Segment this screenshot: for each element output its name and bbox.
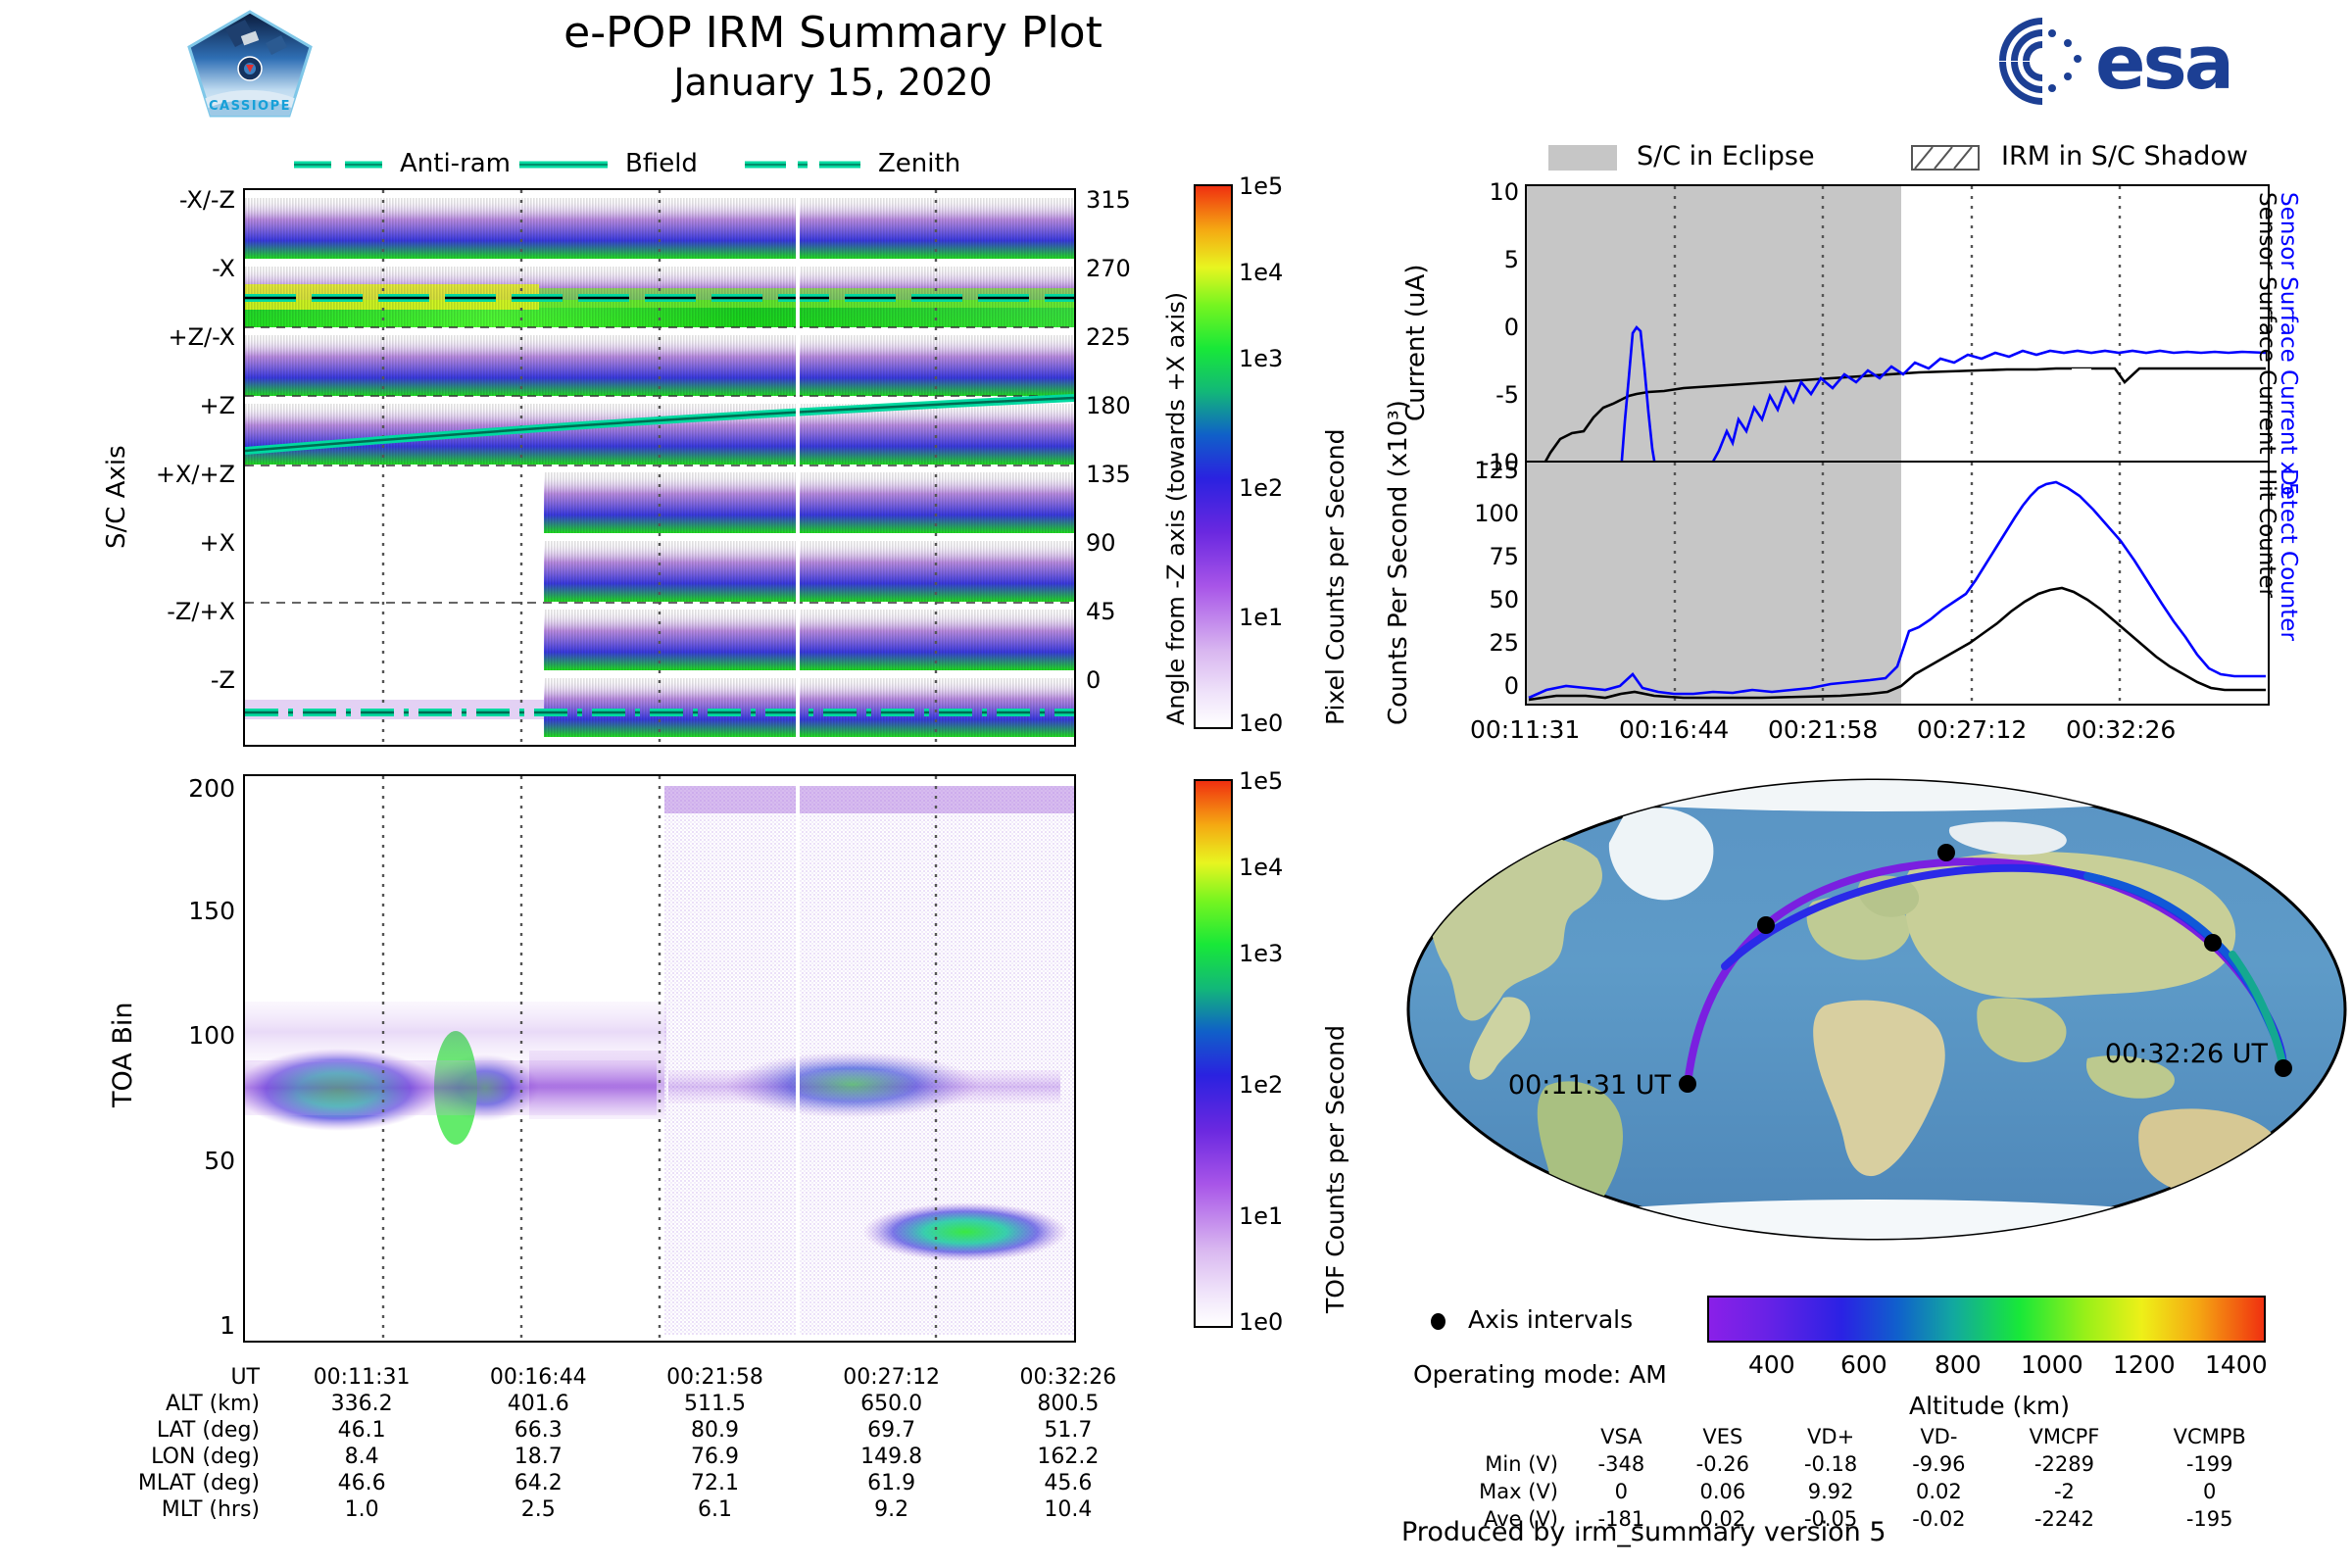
rx-t0: 00:11:31 <box>1470 715 1580 744</box>
lon-v0: 8.4 <box>273 1444 450 1470</box>
ytick-nz-px: -Z/+X <box>167 598 235 625</box>
sc-axis-spectrogram[interactable] <box>243 188 1076 747</box>
lat-v2: 80.9 <box>626 1417 803 1444</box>
alt-1400: 1400 <box>2205 1350 2268 1379</box>
mlt-v3: 9.2 <box>804 1496 980 1523</box>
table-row-mlt: MLT (hrs) 1.0 2.5 6.1 9.2 10.4 <box>59 1496 1156 1523</box>
ytick-px: +X <box>199 529 235 557</box>
toa-200: 200 <box>188 774 235 803</box>
mlt-v4: 10.4 <box>980 1496 1156 1523</box>
toa-150: 150 <box>188 897 235 925</box>
toa-50: 50 <box>204 1147 235 1175</box>
pixel-colorbar-label: Pixel Counts per Second <box>1321 429 1349 725</box>
altitude-colorbar-label: Altitude (km) <box>1909 1392 2070 1420</box>
cnt-0: 0 <box>1504 672 1519 700</box>
sc-axis-y2label: Angle from -Z axis (towards +X axis) <box>1162 292 1190 725</box>
counts-y2label-black: Hit Counter <box>2254 468 2279 598</box>
rx-t3: 00:27:12 <box>1917 715 2027 744</box>
ytick-pz-nx: +Z/-X <box>168 323 235 351</box>
cur-n5: -5 <box>1495 381 1519 409</box>
legend-label-anti-ram: Anti-ram <box>400 149 511 178</box>
ut-v3: 00:27:12 <box>804 1364 980 1391</box>
ephemeris-table: UT 00:11:31 00:16:44 00:21:58 00:27:12 0… <box>59 1364 1156 1523</box>
ytick--x: -X <box>212 255 235 282</box>
ut-v4: 00:32:26 <box>980 1364 1156 1391</box>
cb2-1e5: 1e5 <box>1239 767 1283 795</box>
cassiope-logo: CASSIOPE <box>181 8 318 125</box>
min-vdp: -0.18 <box>1777 1450 1885 1478</box>
counts-ytick-labels: 125 100 75 50 25 0 <box>1411 457 1519 741</box>
row-label-alt: ALT (km) <box>59 1391 273 1417</box>
vcol-vmcpf: VMCPF <box>1993 1423 2136 1450</box>
shadow-swatch <box>1911 145 1980 171</box>
min-vmcpf: -2289 <box>1993 1450 2136 1478</box>
row-label-mlat: MLAT (deg) <box>59 1470 273 1496</box>
max-vsa: 0 <box>1574 1478 1669 1505</box>
pixel-colorbar-ticklabels: 1e5 1e4 1e3 1e2 1e1 1e0 <box>1239 172 1327 741</box>
angle-90: 90 <box>1086 529 1116 557</box>
svg-text:esa: esa <box>2095 19 2231 106</box>
angle-225: 225 <box>1086 323 1131 351</box>
lon-v3: 149.8 <box>804 1444 980 1470</box>
sc-axis-y2tick-labels: 315 270 225 180 135 90 45 0 <box>1086 186 1174 745</box>
axis-intervals-legend: Axis intervals <box>1421 1303 1744 1337</box>
rx-t1: 00:16:44 <box>1619 715 1729 744</box>
ave-vdn: -0.02 <box>1885 1505 1992 1533</box>
cnt-25: 25 <box>1489 629 1519 657</box>
ut-v2: 00:21:58 <box>626 1364 803 1391</box>
angle-270: 270 <box>1086 255 1131 282</box>
max-vdn: 0.02 <box>1885 1478 1992 1505</box>
min-vsa: -348 <box>1574 1450 1669 1478</box>
cb2-1e4: 1e4 <box>1239 854 1283 881</box>
cnt-50: 50 <box>1489 586 1519 613</box>
right-panel-xticklabels: 00:11:31 00:16:44 00:21:58 00:27:12 00:3… <box>1450 715 2352 755</box>
vcol-ves: VES <box>1669 1423 1777 1450</box>
alt-v2: 511.5 <box>626 1391 803 1417</box>
alt-v1: 401.6 <box>450 1391 626 1417</box>
cnt-100: 100 <box>1474 500 1519 527</box>
alt-1000: 1000 <box>2021 1350 2083 1379</box>
cb2-1e3: 1e3 <box>1239 940 1283 967</box>
row-label-mlt: MLT (hrs) <box>59 1496 273 1523</box>
rx-t4: 00:32:26 <box>2066 715 2176 744</box>
altitude-colorbar-ticklabels: 400 600 800 1000 1200 1400 <box>1707 1350 2295 1384</box>
alt-v4: 800.5 <box>980 1391 1156 1417</box>
vcol-vcmpb: VCMPB <box>2135 1423 2283 1450</box>
page-title: e-POP IRM Summary Plot <box>294 8 1372 58</box>
legend-label-zenith: Zenith <box>878 149 960 178</box>
map-end-label: 00:32:26 UT <box>2105 1039 2269 1069</box>
cb1-1e3: 1e3 <box>1239 345 1283 372</box>
max-vmcpf: -2 <box>1993 1478 2136 1505</box>
cur-5: 5 <box>1504 246 1519 273</box>
mlt-v0: 1.0 <box>273 1496 450 1523</box>
vcol-vdn: VD- <box>1885 1423 1992 1450</box>
alt-400: 400 <box>1748 1350 1795 1379</box>
pixel-counts-colorbar <box>1194 184 1233 729</box>
cb2-1e0: 1e0 <box>1239 1308 1283 1336</box>
cnt-125: 125 <box>1474 457 1519 484</box>
vrow-label-max: Max (V) <box>1401 1478 1574 1505</box>
cb2-1e1: 1e1 <box>1239 1202 1283 1230</box>
lat-v4: 51.7 <box>980 1417 1156 1444</box>
sc-axis-ytick-labels: -X/-Z -X +Z/-X +Z +X/+Z +X -Z/+X -Z <box>127 186 235 735</box>
alt-800: 800 <box>1935 1350 1982 1379</box>
rx-t2: 00:21:58 <box>1768 715 1878 744</box>
table-row-lon: LON (deg) 8.4 18.7 76.9 149.8 162.2 <box>59 1444 1156 1470</box>
alt-v0: 336.2 <box>273 1391 450 1417</box>
table-row-mlat: MLAT (deg) 46.6 64.2 72.1 61.9 45.6 <box>59 1470 1156 1496</box>
tof-counts-colorbar <box>1194 779 1233 1328</box>
shadow-legend-label: IRM in S/C Shadow <box>2001 141 2248 171</box>
mlat-v4: 45.6 <box>980 1470 1156 1496</box>
cb1-1e2: 1e2 <box>1239 474 1283 502</box>
alt-v3: 650.0 <box>804 1391 980 1417</box>
ytick--z: -Z <box>211 666 235 694</box>
alt-1200: 1200 <box>2113 1350 2176 1379</box>
mlat-v0: 46.6 <box>273 1470 450 1496</box>
ave-vmcpf: -2242 <box>1993 1505 2136 1533</box>
toa-bin-ytick-labels: 200 150 100 50 1 <box>127 774 235 1352</box>
produced-by-label: Produced by irm_summary version 5 <box>1401 1517 1886 1547</box>
voltage-row-max: Max (V) 0 0.06 9.92 0.02 -2 0 <box>1401 1478 2283 1505</box>
cnt-75: 75 <box>1489 543 1519 570</box>
vcol-vsa: VSA <box>1574 1423 1669 1450</box>
ytick-pz: +Z <box>199 392 235 419</box>
ut-v0: 00:11:31 <box>273 1364 450 1391</box>
cb1-1e5: 1e5 <box>1239 172 1283 200</box>
svg-text:CASSIOPE: CASSIOPE <box>209 99 291 114</box>
ut-v1: 00:16:44 <box>450 1364 626 1391</box>
eclipse-legend-label: S/C in Eclipse <box>1637 141 1815 171</box>
row-label-lon: LON (deg) <box>59 1444 273 1470</box>
eclipse-swatch <box>1548 145 1617 171</box>
tof-colorbar-label: TOF Counts per Second <box>1321 1025 1349 1313</box>
esa-logo: esa <box>1989 10 2313 113</box>
table-row-ut: UT 00:11:31 00:16:44 00:21:58 00:27:12 0… <box>59 1364 1156 1391</box>
current-y2label-black: Sensor Surface Current <box>2254 192 2279 454</box>
alt-600: 600 <box>1840 1350 1887 1379</box>
lat-v0: 46.1 <box>273 1417 450 1444</box>
ground-track-map[interactable]: 00:11:31 UT 00:32:26 UT <box>1401 774 2352 1245</box>
cb2-1e2: 1e2 <box>1239 1071 1283 1099</box>
tof-colorbar-ticklabels: 1e5 1e4 1e3 1e2 1e1 1e0 <box>1239 767 1327 1346</box>
angle-0: 0 <box>1086 666 1101 694</box>
vcol-vdp: VD+ <box>1777 1423 1885 1450</box>
table-row-lat: LAT (deg) 46.1 66.3 80.9 69.7 51.7 <box>59 1417 1156 1444</box>
axis-interval-marker-icon <box>1431 1313 1445 1330</box>
cb1-1e4: 1e4 <box>1239 259 1283 286</box>
ytick-px-pz: +X/+Z <box>156 461 235 488</box>
map-start-label: 00:11:31 UT <box>1508 1070 1672 1101</box>
axis-intervals-label: Axis intervals <box>1468 1305 1633 1334</box>
operating-mode-label: Operating mode: AM <box>1413 1360 1667 1389</box>
page-date: January 15, 2020 <box>294 61 1372 104</box>
lat-v1: 66.3 <box>450 1417 626 1444</box>
current-ytick-labels: 10 5 0 -5 -10 <box>1411 178 1519 472</box>
mlat-v1: 64.2 <box>450 1470 626 1496</box>
toa-1: 1 <box>220 1311 235 1340</box>
cur-0: 0 <box>1504 314 1519 341</box>
max-vcmpb: 0 <box>2135 1478 2283 1505</box>
max-ves: 0.06 <box>1669 1478 1777 1505</box>
mlat-v3: 61.9 <box>804 1470 980 1496</box>
cur-10: 10 <box>1489 178 1519 206</box>
lon-v2: 76.9 <box>626 1444 803 1470</box>
cb1-1e1: 1e1 <box>1239 604 1283 631</box>
sc-axis-legend: Anti-ram Bfield Zenith <box>284 147 1029 182</box>
lat-v3: 69.7 <box>804 1417 980 1444</box>
min-vdn: -9.96 <box>1885 1450 1992 1478</box>
angle-135: 135 <box>1086 461 1131 488</box>
eclipse-legend: S/C in Eclipse IRM in S/C Shadow <box>1548 139 2352 178</box>
mlt-v1: 2.5 <box>450 1496 626 1523</box>
current-panel[interactable] <box>1525 184 2270 478</box>
mlt-v2: 6.1 <box>626 1496 803 1523</box>
lon-v1: 18.7 <box>450 1444 626 1470</box>
angle-315: 315 <box>1086 186 1131 214</box>
counts-panel[interactable] <box>1525 461 2270 706</box>
voltage-row-min: Min (V) -348 -0.26 -0.18 -9.96 -2289 -19… <box>1401 1450 2283 1478</box>
angle-45: 45 <box>1086 598 1116 625</box>
lon-v4: 162.2 <box>980 1444 1156 1470</box>
mlat-v2: 72.1 <box>626 1470 803 1496</box>
voltage-header-row: VSA VES VD+ VD- VMCPF VCMPB <box>1401 1423 2283 1450</box>
legend-label-bfield: Bfield <box>625 149 698 178</box>
min-vcmpb: -199 <box>2135 1450 2283 1478</box>
table-row-alt: ALT (km) 336.2 401.6 511.5 650.0 800.5 <box>59 1391 1156 1417</box>
toa-bin-spectrogram[interactable] <box>243 774 1076 1343</box>
toa-100: 100 <box>188 1021 235 1050</box>
angle-180: 180 <box>1086 392 1131 419</box>
max-vdp: 9.92 <box>1777 1478 1885 1505</box>
ytick--x--z: -X/-Z <box>179 186 235 214</box>
vrow-label-min: Min (V) <box>1401 1450 1574 1478</box>
altitude-colorbar <box>1707 1296 2266 1343</box>
counts-ylabel-line1: Counts Per Second (x10³) <box>1384 400 1413 725</box>
row-label-lat: LAT (deg) <box>59 1417 273 1444</box>
row-label-ut: UT <box>59 1364 273 1391</box>
ave-vcmpb: -195 <box>2135 1505 2283 1533</box>
min-ves: -0.26 <box>1669 1450 1777 1478</box>
cb1-1e0: 1e0 <box>1239 710 1283 737</box>
